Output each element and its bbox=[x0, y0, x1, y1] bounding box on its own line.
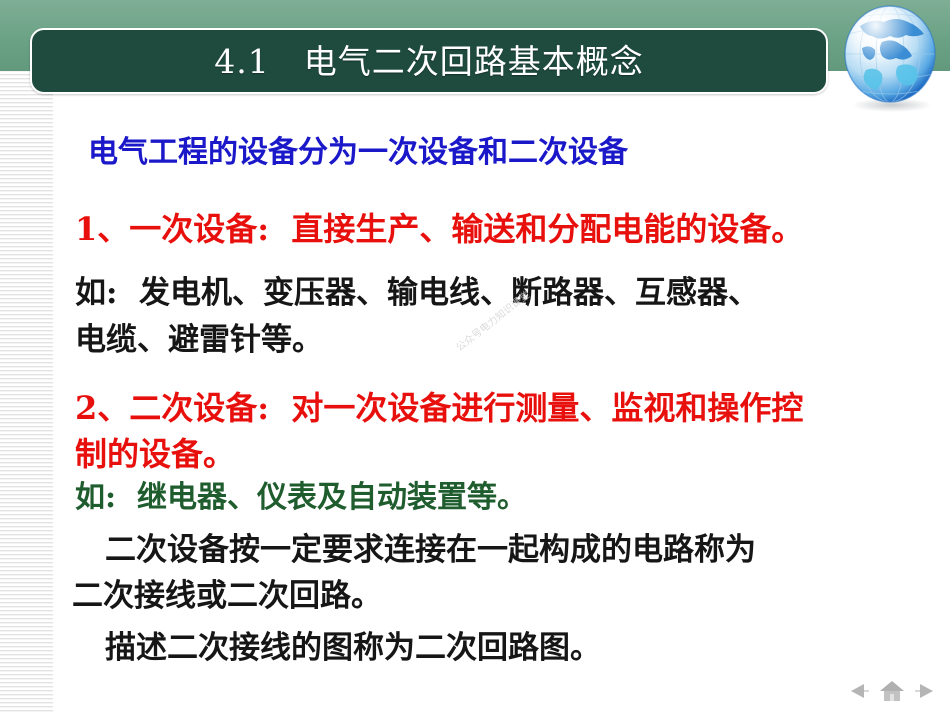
body-line-10: 描述二次接线的图称为二次回路图。 bbox=[105, 633, 601, 664]
home-icon[interactable] bbox=[879, 678, 905, 704]
body-line-4: 电缆、避雷针等。 bbox=[75, 325, 323, 356]
slide-canvas: 4.1 电气二次回路基本概念 bbox=[0, 0, 950, 714]
body-line-7: 如: 继电器、仪表及自动装置等。 bbox=[75, 483, 527, 513]
body-line-8: 二次设备按一定要求连接在一起构成的电路称为 bbox=[105, 535, 756, 566]
forward-arrow-icon[interactable] bbox=[912, 678, 938, 704]
body-line-3: 如: 发电机、变压器、输电线、断路器、互感器、 bbox=[75, 278, 759, 309]
body-line-6: 制的设备。 bbox=[75, 438, 235, 470]
back-arrow-icon[interactable] bbox=[846, 678, 872, 704]
body-line-2: 1、一次设备: 直接生产、输送和分配电能的设备。 bbox=[75, 213, 803, 245]
globe-icon bbox=[838, 4, 944, 116]
slide-navigation bbox=[846, 676, 938, 706]
body-line-9: 二次接线或二次回路。 bbox=[72, 581, 382, 612]
body-line-1: 电气工程的设备分为一次设备和二次设备 bbox=[88, 138, 628, 168]
body-line-5: 2、二次设备: 对一次设备进行测量、监视和操作控 bbox=[75, 392, 803, 424]
slide-title-box: 4.1 电气二次回路基本概念 bbox=[30, 28, 828, 94]
slide-body: 电气工程的设备分为一次设备和二次设备 1、一次设备: 直接生产、输送和分配电能的… bbox=[0, 100, 950, 660]
page-title: 4.1 电气二次回路基本概念 bbox=[214, 45, 643, 78]
